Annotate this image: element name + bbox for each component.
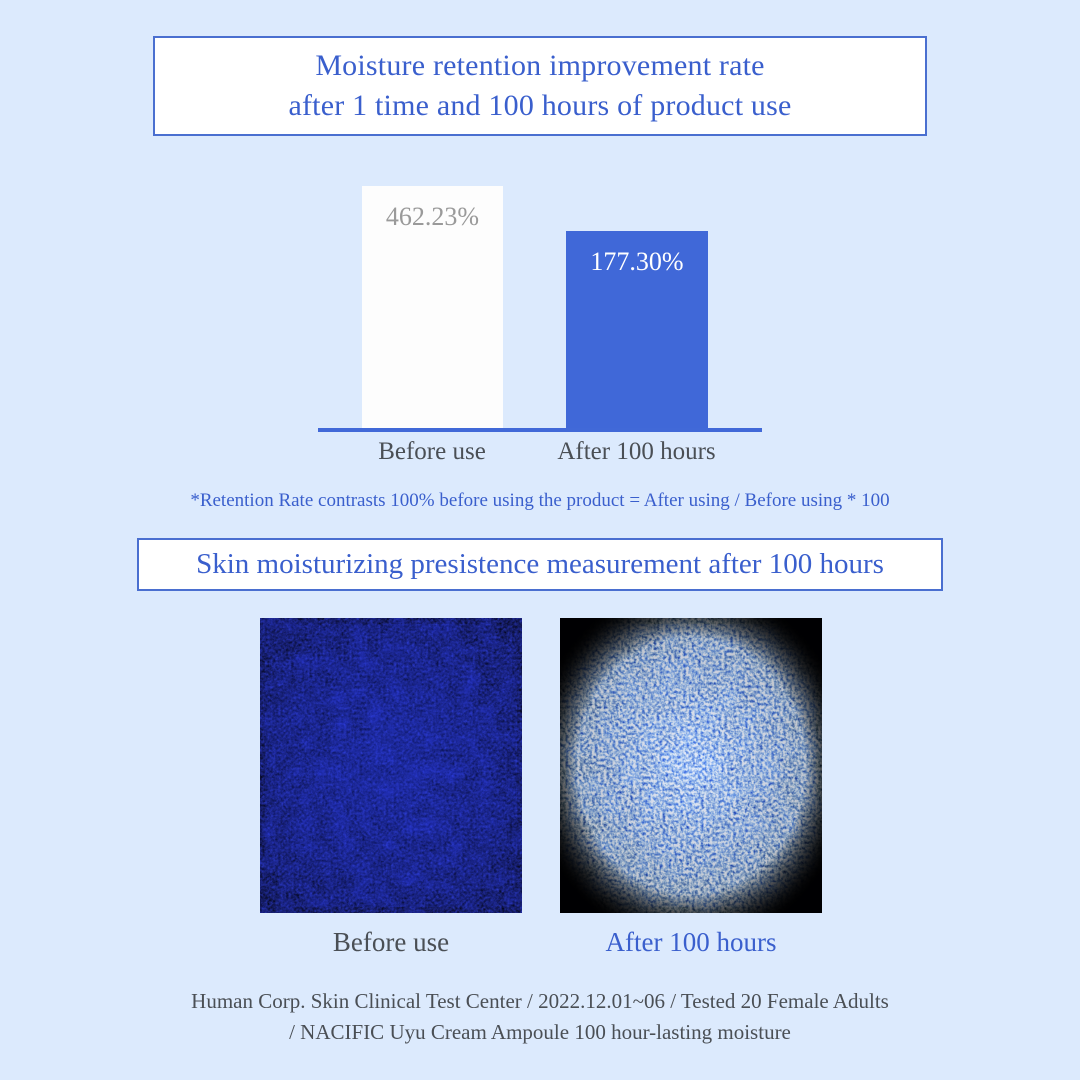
study-caption: Human Corp. Skin Clinical Test Center / …: [0, 986, 1080, 1048]
title-line-2: after 1 time and 100 hours of product us…: [288, 86, 791, 126]
micrograph-before-use: [260, 618, 522, 913]
category-label-before: Before use: [352, 438, 512, 466]
chart-category-labels: Before use After 100 hours: [300, 438, 780, 478]
section-heading-text: Skin moisturizing presistence measuremen…: [196, 548, 884, 581]
micrograph-before-icon: [260, 618, 522, 913]
bar-value-after: 177.30%: [566, 247, 708, 277]
chart-footnote: *Retention Rate contrasts 100% before us…: [0, 490, 1080, 512]
section-header-box: Skin moisturizing presistence measuremen…: [137, 538, 943, 591]
bar-before-use: 462.23%: [362, 186, 503, 428]
micrograph-label-after: After 100 hours: [560, 927, 822, 958]
chart-plot-area: 462.23% 177.30%: [300, 170, 780, 432]
bar-after-100-hours: 177.30%: [566, 231, 708, 428]
caption-line-1: Human Corp. Skin Clinical Test Center / …: [0, 986, 1080, 1017]
micrograph-after-icon: [560, 618, 822, 913]
chart-axis-line: [318, 428, 762, 432]
micrograph-label-before: Before use: [260, 927, 522, 958]
bar-value-before: 462.23%: [362, 202, 503, 232]
micrograph-after-100-hours: [560, 618, 822, 913]
title-line-1: Moisture retention improvement rate: [315, 46, 764, 86]
category-label-after: After 100 hours: [555, 438, 718, 466]
title-box: Moisture retention improvement rate afte…: [153, 36, 927, 136]
caption-line-2: / NACIFIC Uyu Cream Ampoule 100 hour-las…: [0, 1017, 1080, 1048]
bar-chart: 462.23% 177.30% Before use After 100 hou…: [300, 170, 780, 480]
